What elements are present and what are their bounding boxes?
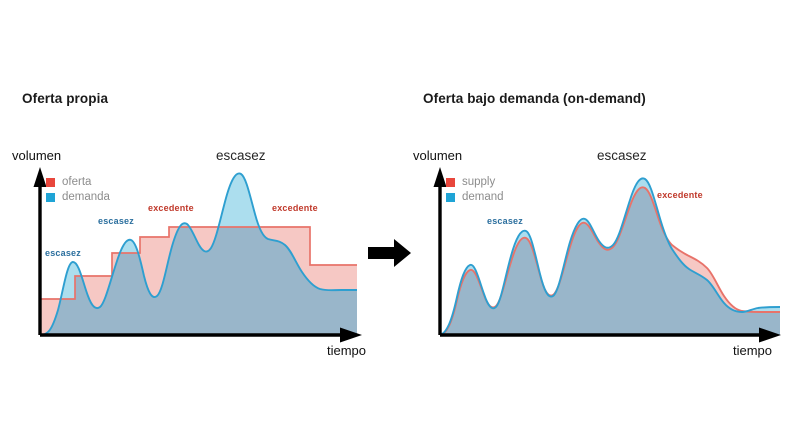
legend-left: oferta demanda: [46, 175, 110, 205]
annotation-scarcity-major-left: escasez: [216, 148, 266, 163]
y-axis-arrowhead-right: [434, 167, 447, 187]
legend-label-oferta: oferta: [62, 176, 91, 188]
annotation-surplus-1-left: excedente: [148, 203, 194, 213]
legend-label-demand: demand: [462, 191, 504, 203]
legend-item-demanda: demanda: [46, 190, 110, 204]
x-axis-label-left: tiempo: [327, 343, 366, 358]
legend-swatch-demand-icon: [446, 193, 455, 202]
annotation-scarcity-2-left: escasez: [98, 216, 134, 226]
annotation-scarcity-major-right: escasez: [597, 148, 647, 163]
y-axis-label-left: volumen: [12, 148, 61, 163]
annotation-surplus-2-left: excedente: [272, 203, 318, 213]
y-axis-label-right: volumen: [413, 148, 462, 163]
chart-right-svg: [405, 0, 810, 445]
legend-swatch-supply-icon: [446, 178, 455, 187]
legend-item-oferta: oferta: [46, 175, 110, 189]
y-axis-arrowhead-left: [34, 167, 47, 187]
annotation-scarcity-1-right: escasez: [487, 216, 523, 226]
x-axis-label-right: tiempo: [733, 343, 772, 358]
legend-item-demand: demand: [446, 190, 504, 204]
legend-swatch-supply-icon: [46, 178, 55, 187]
chart-left-svg: [0, 0, 395, 445]
legend-label-supply: supply: [462, 176, 495, 188]
legend-right: supply demand: [446, 175, 504, 205]
legend-swatch-demand-icon: [46, 193, 55, 202]
chart-panel-oferta-propia: Oferta propia volumen tiempo oferta: [0, 0, 395, 445]
legend-item-supply: supply: [446, 175, 504, 189]
chart-panel-oferta-bajo-demanda: Oferta bajo demanda (on-demand) volumen …: [405, 0, 810, 445]
annotation-surplus-1-right: excedente: [657, 190, 703, 200]
legend-label-demanda: demanda: [62, 191, 110, 203]
annotation-scarcity-1-left: escasez: [45, 248, 81, 258]
